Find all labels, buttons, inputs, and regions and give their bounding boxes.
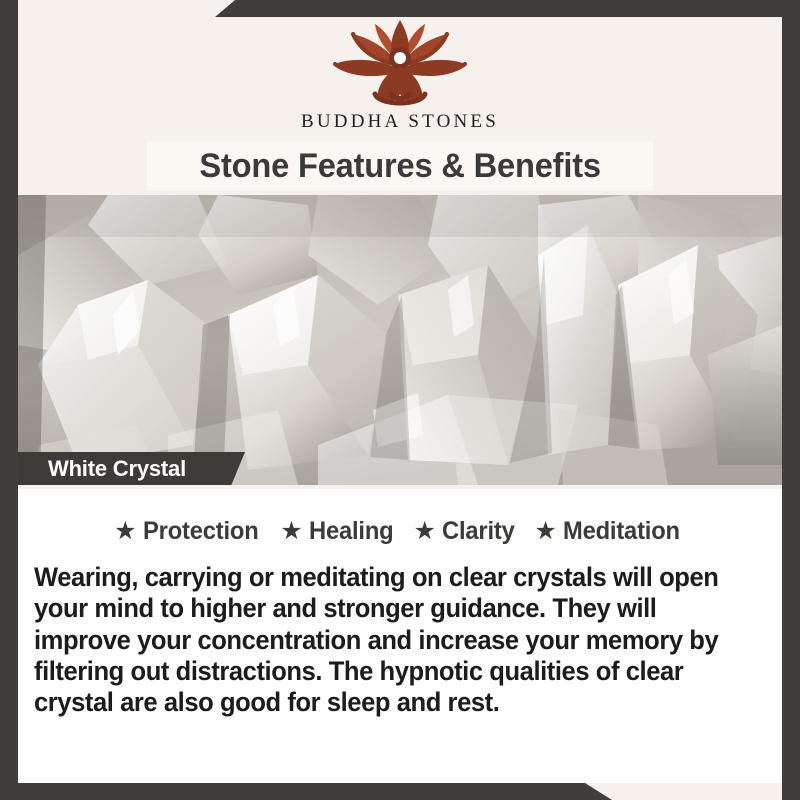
benefit-label: Protection xyxy=(143,517,259,546)
crystal-cluster-illustration xyxy=(18,195,782,485)
frame-band-right xyxy=(782,0,800,800)
crystal-photo xyxy=(18,195,782,485)
star-icon: ★ xyxy=(280,519,302,544)
benefit-item-clarity: ★ Clarity xyxy=(414,517,519,546)
benefit-label: Meditation xyxy=(563,517,680,546)
photo-caption-label: White Crystal xyxy=(18,456,186,482)
benefit-label: Clarity xyxy=(442,517,515,546)
benefits-list: ★ Protection ★ Healing ★ Clarity ★ Medit… xyxy=(18,489,782,548)
photo-caption-banner: White Crystal xyxy=(18,452,245,485)
brand-name: BUDDHA STONES xyxy=(18,111,782,133)
benefit-item-healing: ★ Healing xyxy=(280,517,397,546)
star-icon: ★ xyxy=(114,519,136,544)
brand-logo: BUDDHA STONES xyxy=(18,14,782,133)
benefit-label: Healing xyxy=(309,517,393,546)
poster-root: BUDDHA STONES Stone Features & Benefits xyxy=(0,0,800,800)
frame-band-bottom xyxy=(0,783,612,800)
title-panel: Stone Features & Benefits xyxy=(147,141,653,191)
star-icon: ★ xyxy=(534,519,556,544)
body-section: ★ Protection ★ Healing ★ Clarity ★ Medit… xyxy=(18,489,782,783)
description-text: Wearing, carrying or meditating on clear… xyxy=(34,562,735,718)
page-title: Stone Features & Benefits xyxy=(199,147,600,186)
lotus-meditation-figure-icon xyxy=(305,14,495,110)
benefit-item-meditation: ★ Meditation xyxy=(534,517,685,546)
star-icon: ★ xyxy=(414,519,436,544)
benefit-item-protection: ★ Protection xyxy=(114,517,264,546)
frame-band-left xyxy=(0,0,18,800)
